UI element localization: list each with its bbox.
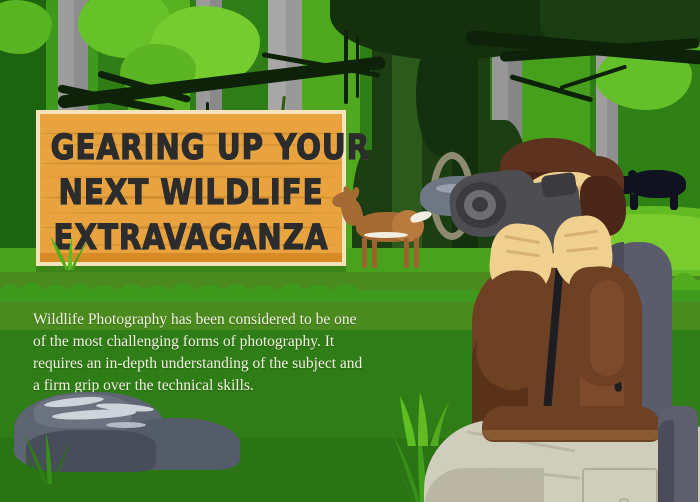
title-line-1: GEARING UP YOUR <box>51 126 332 171</box>
photographer <box>430 120 700 502</box>
camera-lens-inner <box>472 197 488 212</box>
hanging-vine-2 <box>356 36 359 98</box>
deer-belly-stripe <box>364 232 408 238</box>
pants-pocket <box>582 468 658 502</box>
intro-paragraph: Wildlife Photography has been considered… <box>33 309 363 397</box>
title-line-2: NEXT WILDLIFE <box>51 171 332 216</box>
rock-highlight-4 <box>106 422 146 428</box>
title-line-3: EXTRAVAGANZA <box>51 216 332 261</box>
deer-leg-2 <box>372 238 377 268</box>
deer-leg-1 <box>362 238 367 268</box>
jacket-hem-edge <box>482 430 662 440</box>
gear-strap-lower-dark <box>658 420 674 502</box>
arm-left <box>474 268 548 392</box>
arm-right-highlight <box>590 280 624 376</box>
infographic-canvas: GEARING UP YOUR NEXT WILDLIFE EXTRAVAGAN… <box>0 0 700 502</box>
deer-leg-3 <box>404 238 409 268</box>
grass-tuft-rocks <box>18 420 74 484</box>
page-title: GEARING UP YOUR NEXT WILDLIFE EXTRAVAGAN… <box>51 126 332 261</box>
deer-leg-4 <box>414 238 419 268</box>
hanging-vine-1 <box>344 30 348 104</box>
camera-viewfinder <box>541 172 578 199</box>
grass-tuft-sign <box>46 230 90 270</box>
